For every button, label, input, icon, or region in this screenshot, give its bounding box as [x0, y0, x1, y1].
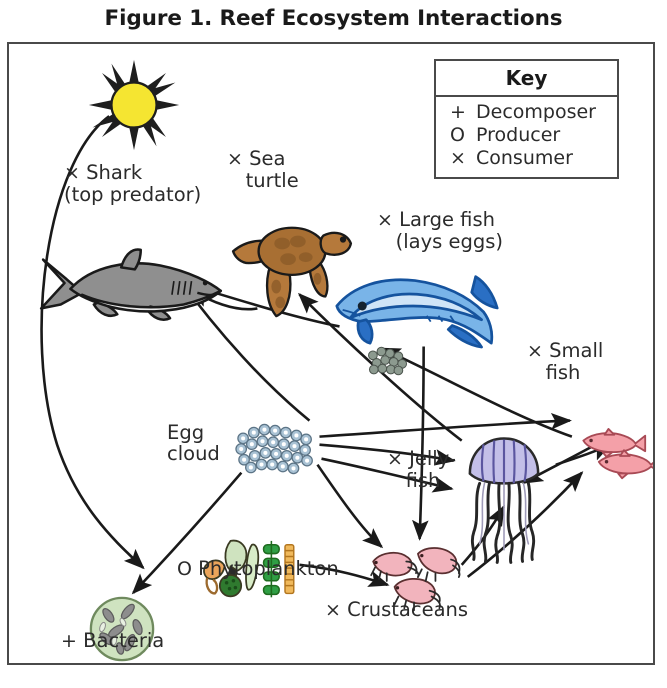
label-largefish-line1: Large fish: [399, 208, 495, 231]
sun-icon: [87, 58, 181, 152]
label-bacteria-text: Bacteria: [83, 629, 164, 652]
label-shark: × Shark(top predator): [64, 162, 201, 205]
label-crustaceans: × Crustaceans: [325, 599, 468, 621]
fish-egg-cluster-icon: [364, 344, 412, 378]
key-entry-list: + Decomposer O Producer × Consumer: [436, 97, 617, 177]
label-egg-cloud: Eggcloud: [167, 422, 220, 464]
label-eggcloud-line1: Egg: [167, 421, 204, 444]
label-small-fish: × Small fish: [527, 340, 603, 383]
label-jellyfish-line2: fish: [406, 469, 441, 492]
label-jellyfish: × Jelly- fish: [387, 448, 456, 491]
decomposer-symbol-icon: +: [61, 630, 77, 652]
label-smallfish-line2: fish: [546, 361, 581, 384]
small-fish-icon: [579, 427, 655, 485]
plus-icon: +: [450, 101, 476, 124]
key-entry-label: Consumer: [476, 147, 573, 170]
label-sea-turtle: × Sea turtle: [227, 148, 299, 191]
key-legend: Key + Decomposer O Producer × Consumer: [434, 59, 619, 179]
label-shark-line2: (top predator): [64, 183, 201, 206]
label-jellyfish-line1: Jelly-: [409, 447, 456, 470]
label-shark-line1: Shark: [86, 161, 142, 184]
figure-container: Figure 1. Reef Ecosystem Interactions: [0, 0, 667, 688]
consumer-symbol-icon: ×: [387, 448, 403, 470]
label-crustaceans-text: Crustaceans: [347, 598, 468, 621]
label-turtle-line2: turtle: [246, 169, 299, 192]
page-title: Figure 1. Reef Ecosystem Interactions: [0, 6, 667, 31]
arrow-eggcloud-to-crustaceans: [317, 465, 381, 547]
label-bacteria: + Bacteria: [61, 630, 164, 652]
consumer-symbol-icon: ×: [377, 209, 393, 231]
consumer-symbol-icon: ×: [527, 340, 543, 362]
label-phytoplankton-text: Phytoplankton: [198, 557, 339, 580]
producer-symbol-icon: O: [177, 558, 192, 580]
key-entry-consumer: × Consumer: [450, 147, 617, 170]
jellyfish-icon: [464, 434, 544, 564]
label-large-fish: × Large fish (lays eggs): [377, 209, 503, 252]
consumer-symbol-icon: ×: [325, 599, 341, 621]
large-fish-icon: [329, 261, 505, 351]
key-entry-decomposer: + Decomposer: [450, 101, 617, 124]
key-entry-label: Producer: [476, 124, 560, 147]
label-eggcloud-line2: cloud: [167, 442, 220, 465]
label-smallfish-line1: Small: [549, 339, 603, 362]
arrow-largefish-to-crustaceans: [420, 346, 424, 538]
label-phytoplankton: O Phytoplankton: [177, 558, 339, 580]
label-largefish-line2: (lays eggs): [396, 230, 503, 253]
shark-icon: [31, 244, 227, 326]
key-entry-producer: O Producer: [450, 124, 617, 147]
consumer-symbol-icon: ×: [227, 148, 243, 170]
key-title: Key: [436, 61, 617, 97]
egg-cloud-icon: [233, 419, 323, 481]
circle-icon: O: [450, 124, 476, 147]
diagram-frame: Key + Decomposer O Producer × Consumer: [7, 42, 655, 665]
consumer-symbol-icon: ×: [64, 162, 80, 184]
label-turtle-line1: Sea: [249, 147, 285, 170]
cross-icon: ×: [450, 147, 476, 170]
key-entry-label: Decomposer: [476, 101, 596, 124]
